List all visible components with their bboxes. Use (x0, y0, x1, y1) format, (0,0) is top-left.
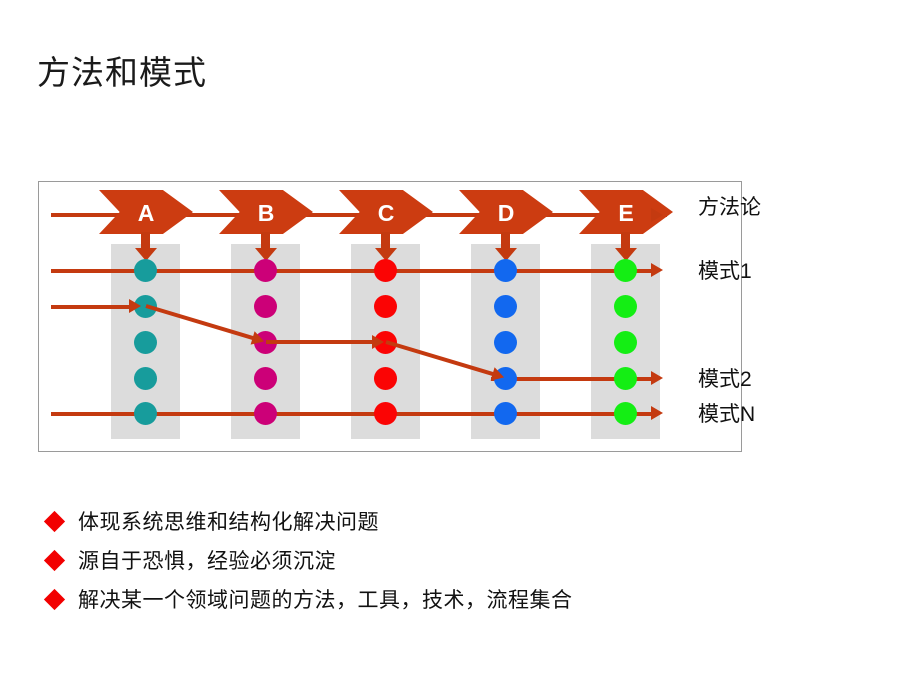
side-label-mode-n: 模式N (698, 398, 755, 428)
stage-chevron-c[interactable] (339, 190, 433, 234)
node-dot-c-5 (374, 402, 397, 425)
mode-line-n-arrowhead (651, 406, 663, 420)
node-dot-d-3 (494, 331, 517, 354)
bullet-diamond-icon (44, 549, 65, 570)
node-dot-b-5 (254, 402, 277, 425)
segment-b-to-c (266, 340, 374, 344)
side-label-mode-2: 模式2 (698, 363, 752, 393)
node-dot-d-5 (494, 402, 517, 425)
stage-chevron-b[interactable] (219, 190, 313, 234)
node-dot-c-2 (374, 295, 397, 318)
segment-b-to-c-arrowhead (372, 335, 384, 349)
node-dot-a-3 (134, 331, 157, 354)
node-dot-e-2 (614, 295, 637, 318)
node-dot-e-3 (614, 331, 637, 354)
node-dot-c-1 (374, 259, 397, 282)
bullet-text: 源自于恐惧，经验必须沉淀 (78, 545, 336, 575)
bullet-list: 体现系统思维和结构化解决问题源自于恐惧，经验必须沉淀解决某一个领域问题的方法，工… (47, 503, 847, 620)
bullet-item-3: 解决某一个领域问题的方法，工具，技术，流程集合 (47, 581, 847, 617)
journey-entry-arrowhead (129, 299, 141, 313)
mode-line-2-arrowhead (651, 371, 663, 385)
stage-chevron-a[interactable] (99, 190, 193, 234)
node-dot-b-4 (254, 367, 277, 390)
side-label-methodology: 方法论 (698, 191, 761, 221)
page-title: 方法和模式 (37, 46, 207, 94)
mode-line-1-arrowhead (651, 263, 663, 277)
methodology-diagram: ABCDE (38, 181, 742, 452)
node-dot-d-1 (494, 259, 517, 282)
side-label-mode-1: 模式1 (698, 255, 752, 285)
bullet-diamond-icon (44, 588, 65, 609)
bullet-item-2: 源自于恐惧，经验必须沉淀 (47, 542, 847, 578)
node-dot-a-5 (134, 402, 157, 425)
journey-entry-line (51, 305, 131, 309)
stage-chevron-d[interactable] (459, 190, 553, 234)
bullet-item-1: 体现系统思维和结构化解决问题 (47, 503, 847, 539)
bullet-text: 解决某一个领域问题的方法，工具，技术，流程集合 (78, 584, 573, 614)
methodology-output-arrowhead (651, 208, 663, 222)
bullet-text: 体现系统思维和结构化解决问题 (78, 506, 379, 536)
node-dot-a-1 (134, 259, 157, 282)
node-dot-e-5 (614, 402, 637, 425)
node-dot-a-4 (134, 367, 157, 390)
node-dot-b-2 (254, 295, 277, 318)
node-dot-c-4 (374, 367, 397, 390)
node-dot-e-4 (614, 367, 637, 390)
node-dot-e-1 (614, 259, 637, 282)
bullet-diamond-icon (44, 510, 65, 531)
node-dot-b-1 (254, 259, 277, 282)
node-dot-d-2 (494, 295, 517, 318)
